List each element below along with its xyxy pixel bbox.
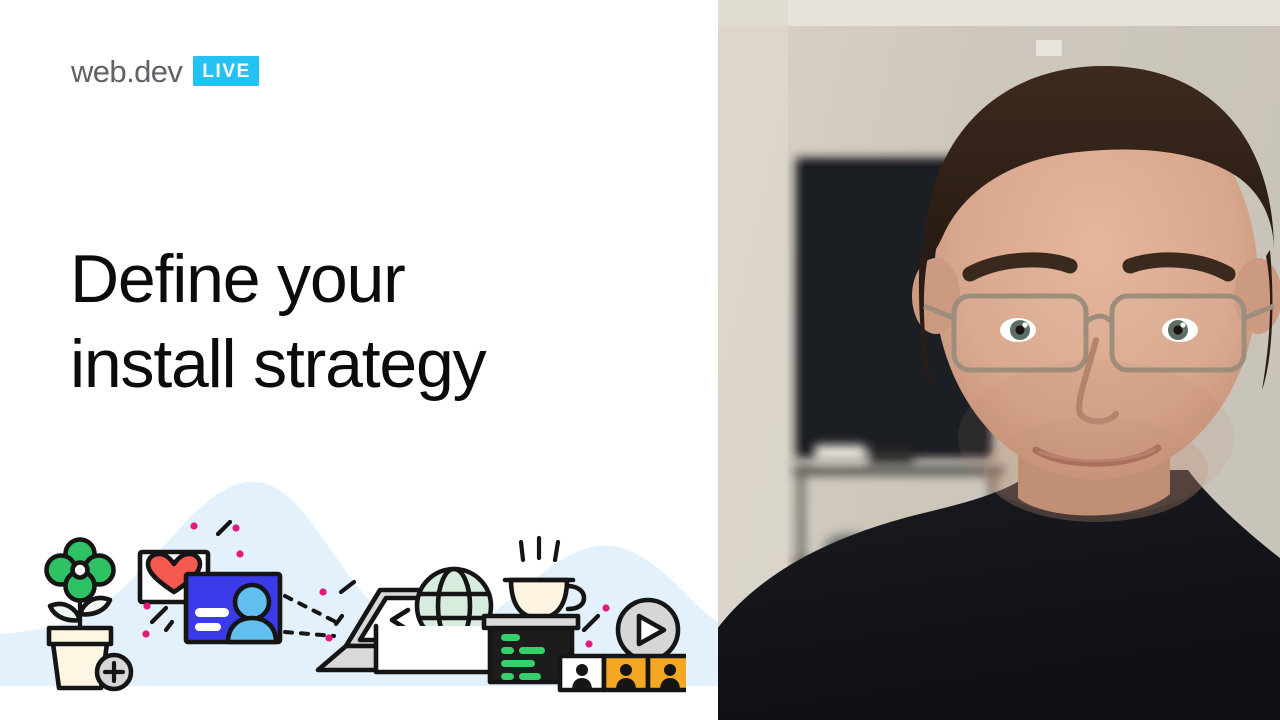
heart-card-icon: [140, 552, 208, 602]
laptop-icon: [318, 590, 488, 670]
live-badge: LIVE: [193, 56, 259, 86]
play-button-icon: [618, 600, 678, 660]
spark-marks-icon: [142, 522, 609, 648]
video-call-card-icon: [186, 574, 280, 642]
brand-wordmark: web.dev: [71, 56, 182, 87]
globe-icon: [417, 569, 491, 643]
add-badge-icon: [97, 655, 131, 689]
slide-panel: web.dev LIVE Define your install strateg…: [0, 0, 718, 720]
presentation-stage: web.dev LIVE Define your install strateg…: [0, 0, 1280, 720]
participant-tiles-icon: [560, 656, 686, 690]
hero-illustration: [36, 504, 686, 694]
slide-title: Define your install strategy: [70, 237, 630, 408]
potted-plant-icon: [47, 540, 114, 689]
brand-lockup: web.dev LIVE: [71, 52, 259, 90]
speaker-camera-image: [718, 0, 1280, 720]
terminal-monitor-icon: [376, 616, 578, 682]
coffee-cup-icon: [505, 538, 584, 618]
speaker-camera-feed: [718, 0, 1280, 720]
decorative-wave-band: [0, 456, 718, 686]
connection-dashes-icon: [285, 596, 336, 636]
